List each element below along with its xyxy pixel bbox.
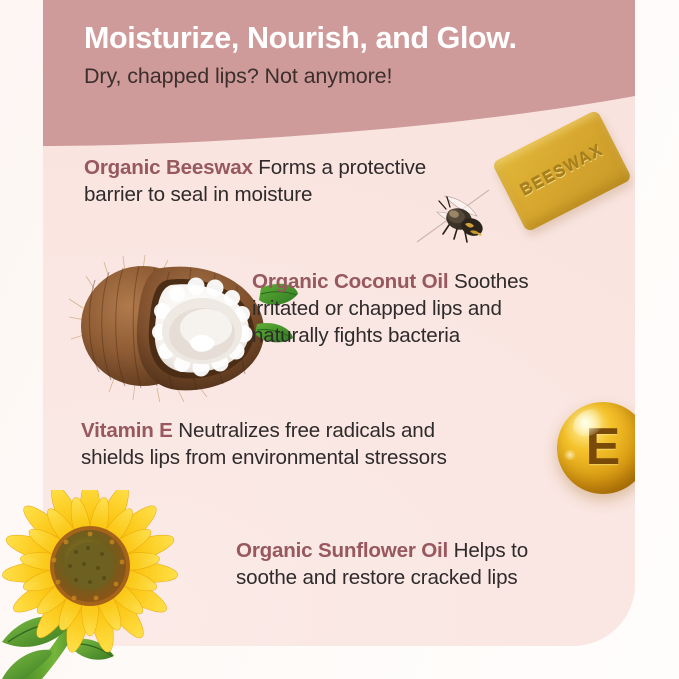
ingredient-sunflower-oil: Organic Sunflower Oil Helps to soothe an… <box>236 538 528 592</box>
header-text-block: Moisturize, Nourish, and Glow. Dry, chap… <box>43 0 635 88</box>
sunflower-image <box>0 490 198 679</box>
ingredient-coconut-name: Organic Coconut Oil <box>252 270 448 293</box>
ingredient-sunflower-line1: Organic Sunflower Oil Helps to <box>236 538 528 565</box>
ingredient-coconut-oil: Organic Coconut Oil Soothes irritated or… <box>252 269 529 349</box>
bee-image <box>415 186 495 248</box>
ingredient-vitamin-e-name: Vitamin E <box>81 419 173 442</box>
ingredient-sunflower-desc1: Helps to <box>448 539 528 562</box>
ingredient-vitamin-e-line1: Vitamin E Neutralizes free radicals and <box>81 418 447 445</box>
ingredient-coconut-line3: naturally fights bacteria <box>252 323 529 350</box>
vitamin-e-capsule-image: E <box>551 396 635 500</box>
ingredient-vitamin-e-desc1: Neutralizes free radicals and <box>173 419 435 442</box>
ingredient-coconut-line1: Organic Coconut Oil Soothes <box>252 269 529 296</box>
ingredient-vitamin-e: Vitamin E Neutralizes free radicals and … <box>81 418 447 472</box>
ingredient-beeswax-name: Organic Beeswax <box>84 156 253 179</box>
infographic-stage: Moisturize, Nourish, and Glow. Dry, chap… <box>0 0 679 679</box>
beeswax-slab: BEESWAX <box>492 109 633 232</box>
ingredient-beeswax-desc1: Forms a protective <box>253 156 426 179</box>
ingredient-sunflower-line2: soothe and restore cracked lips <box>236 565 528 592</box>
ingredient-beeswax: Organic Beeswax Forms a protective barri… <box>84 155 426 209</box>
beeswax-slab-label: BEESWAX <box>517 141 606 200</box>
ingredient-beeswax-line2: barrier to seal in moisture <box>84 182 426 209</box>
ingredient-sunflower-name: Organic Sunflower Oil <box>236 539 448 562</box>
page-subtitle: Dry, chapped lips? Not anymore! <box>84 64 635 89</box>
page-title: Moisturize, Nourish, and Glow. <box>84 22 635 56</box>
ingredient-vitamin-e-line2: shields lips from environmental stressor… <box>81 445 447 472</box>
ingredient-coconut-desc1: Soothes <box>448 270 528 293</box>
ingredient-coconut-line2: irritated or chapped lips and <box>252 296 529 323</box>
beeswax-bar-image: BEESWAX <box>489 112 635 242</box>
ingredient-beeswax-line1: Organic Beeswax Forms a protective <box>84 155 426 182</box>
